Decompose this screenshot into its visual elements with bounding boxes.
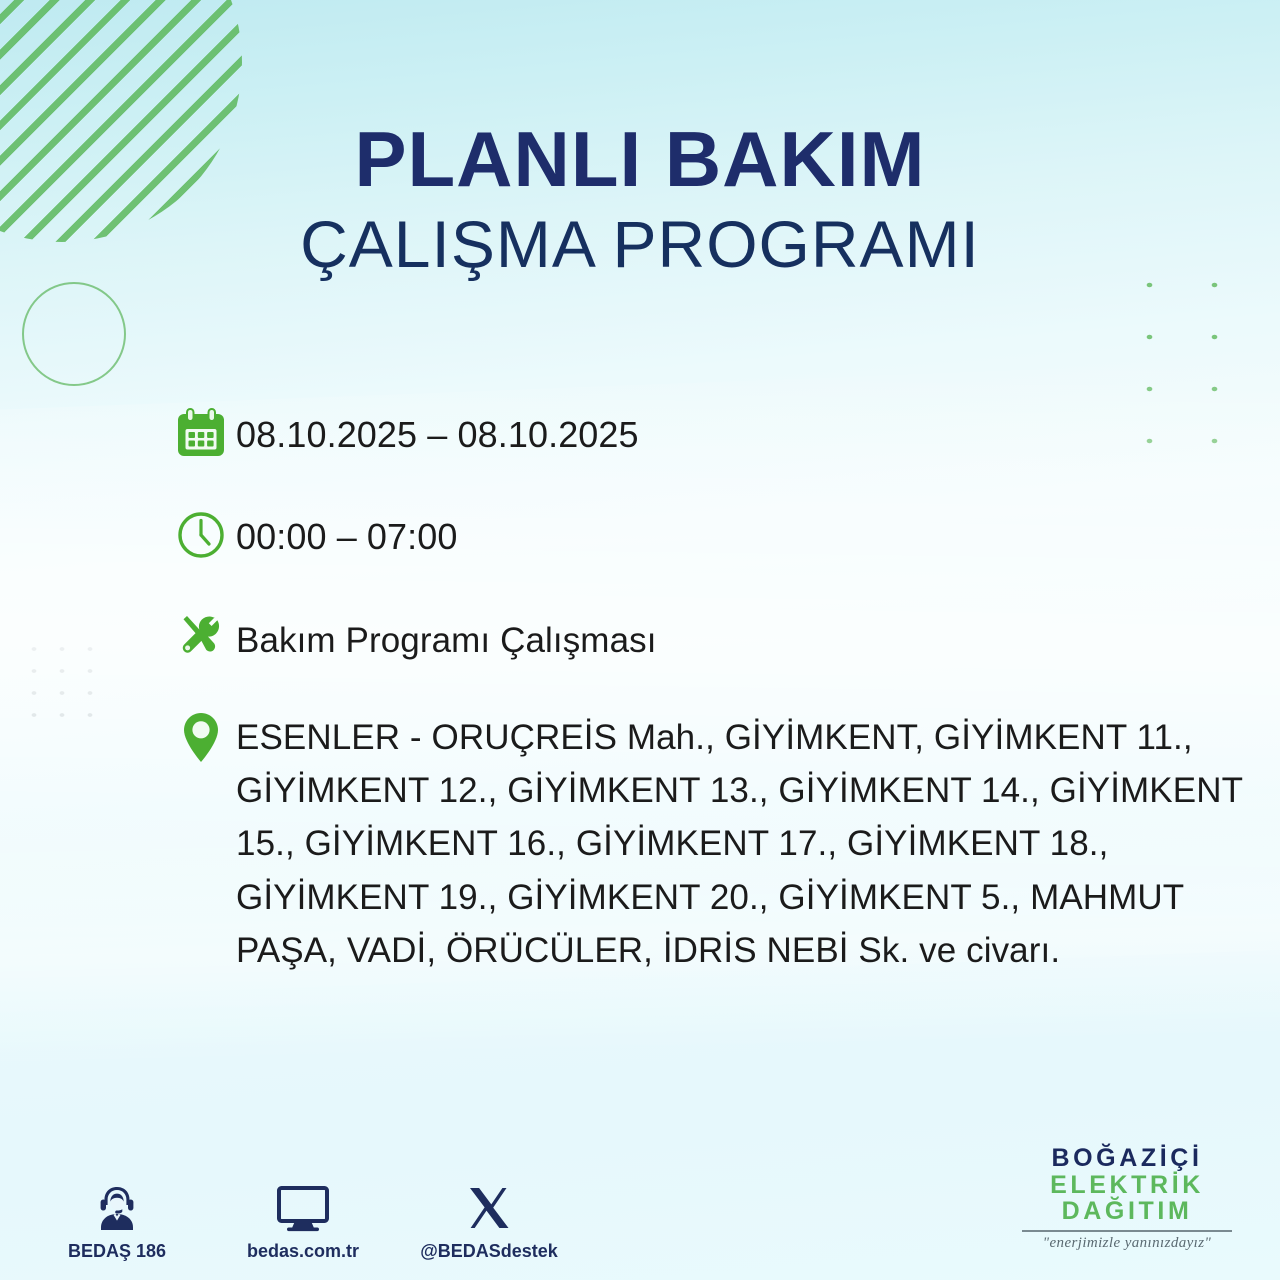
info-row-date: 08.10.2025 – 08.10.2025 [174,405,1244,467]
footer: BEDAŞ 186 bedas.com.tr [0,1110,1280,1280]
dot-grid-left-decoration [18,636,110,731]
brand-divider [1022,1230,1232,1232]
brand-line-bogazici: BOĞAZİÇİ [1012,1145,1242,1172]
info-row-work-type: Bakım Programı Çalışması [174,611,1244,673]
date-range-value: 08.10.2025 – 08.10.2025 [236,405,1244,462]
work-type-value: Bakım Programı Çalışması [236,611,1244,666]
contact-label-website: bedas.com.tr [247,1241,359,1262]
brand-tagline: "enerjimizle yanınızdayız" [1012,1235,1242,1252]
clock-icon [174,507,236,569]
contact-item-website[interactable]: bedas.com.tr [238,1177,368,1262]
calendar-icon [174,405,236,467]
info-row-location: ESENLER - ORUÇREİS Mah., GİYİMKENT, GİYİ… [174,711,1244,977]
call-center-agent-icon [94,1177,140,1233]
circle-outline-decoration [22,282,126,386]
x-twitter-icon [465,1177,513,1233]
poster-canvas: PLANLI BAKIM ÇALIŞMA PROGRAMI [0,0,1280,1280]
time-range-value: 00:00 – 07:00 [236,507,1244,564]
contact-label-x-social: @BEDASdestek [420,1241,558,1262]
brand-logo: BOĞAZİÇİ ELEKTRİK DAĞITIM "enerjimizle y… [1012,1145,1242,1252]
brand-line-elektrik: ELEKTRİK [1012,1172,1242,1199]
contact-item-x-social[interactable]: @BEDASdestek [424,1177,554,1262]
brand-line-dagitim: DAĞITIM [1012,1198,1242,1225]
page-title-block: PLANLI BAKIM ÇALIŞMA PROGRAMI [0,120,1280,280]
info-row-time: 00:00 – 07:00 [174,507,1244,569]
page-title: PLANLI BAKIM [0,120,1280,200]
contact-label-call-center: BEDAŞ 186 [68,1241,166,1262]
footer-contact-list: BEDAŞ 186 bedas.com.tr [52,1177,554,1262]
contact-item-call-center[interactable]: BEDAŞ 186 [52,1177,182,1262]
map-pin-icon [174,711,236,773]
page-subtitle: ÇALIŞMA PROGRAMI [0,208,1280,281]
monitor-icon [275,1177,331,1233]
maintenance-info-list: 08.10.2025 – 08.10.2025 00:00 – 07:00 [174,405,1244,1002]
tools-icon [174,611,236,673]
location-value: ESENLER - ORUÇREİS Mah., GİYİMKENT, GİYİ… [236,711,1244,977]
